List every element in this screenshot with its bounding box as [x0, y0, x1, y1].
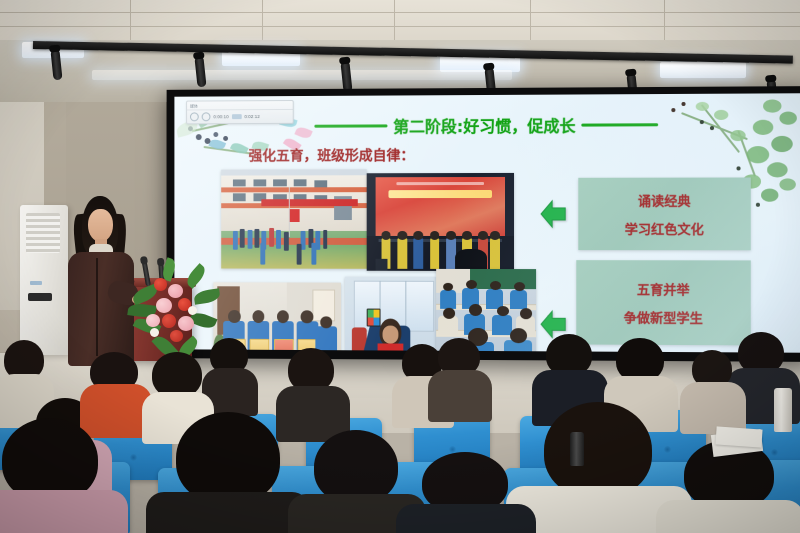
callout-line: 争做新型学生: [624, 307, 703, 326]
handout-papers[interactable]: [715, 426, 762, 447]
speaker-coat-seam: [96, 258, 98, 356]
flower-rose-white: [188, 306, 197, 315]
callout-box-classics: 诵读经典 学习红色文化: [578, 177, 750, 250]
audience-member: [434, 338, 484, 408]
flower-rose-pink: [146, 314, 160, 327]
callout-line: 学习红色文化: [625, 218, 704, 237]
flower-rose-pink: [168, 284, 183, 298]
flower-rose-red: [170, 330, 183, 342]
title-rule-right: [582, 123, 659, 126]
speaker-coat: [68, 252, 134, 366]
audience-member: [688, 350, 736, 420]
air-conditioner-unit: [20, 205, 68, 355]
presentation-photo-scene: 媒体 0:00:10 0:02:12 第二阶段:好习惯，促成长: [0, 0, 800, 533]
callout-line: 五育并举: [637, 279, 690, 298]
audience-member-foreground: [300, 430, 410, 533]
audience-member-foreground: [404, 452, 524, 533]
title-rule-left: [314, 124, 387, 127]
audience-member-foreground: [158, 412, 294, 533]
air-conditioner-grill: [26, 213, 60, 253]
slide-title-row: 第二阶段:好习惯，促成长: [174, 111, 800, 138]
callout-line: 诵读经典: [638, 190, 691, 209]
arrow-left-top-icon: [540, 195, 566, 233]
presentation-screen: 媒体 0:00:10 0:02:12 第二阶段:好习惯，促成长: [167, 86, 800, 362]
air-conditioner-control-panel[interactable]: [28, 293, 52, 301]
thermos-bottle[interactable]: [570, 432, 584, 466]
powerpoint-slide: 媒体 0:00:10 0:02:12 第二阶段:好习惯，促成长: [174, 93, 800, 352]
photo-stage-performance: [367, 173, 514, 271]
thermos-bottle[interactable]: [774, 388, 792, 432]
audience-member: [206, 338, 252, 404]
ceiling-panel-light: [92, 70, 512, 80]
photo-flag-ceremony: [221, 169, 366, 268]
slide-title: 第二阶段:好习惯，促成长: [393, 113, 575, 138]
audience-member-foreground: [516, 402, 672, 533]
speaker-presenter: [62, 196, 138, 366]
flower-rose-red: [162, 314, 176, 328]
photo-rubiks-cube: [345, 277, 436, 353]
flower-rose-red: [154, 278, 167, 291]
screen-display-area: 媒体 0:00:10 0:02:12 第二阶段:好习惯，促成长: [174, 93, 800, 352]
audience-member: [542, 334, 596, 408]
flower-rose-pink: [178, 316, 194, 331]
audience-member: [86, 352, 142, 422]
air-conditioner-badge: [30, 281, 42, 285]
audience-member-foreground: [0, 418, 110, 533]
flower-rose-pink: [156, 298, 172, 313]
ceiling-panel-light: [660, 62, 746, 78]
slide-subtitle: 强化五育，班级形成自律：: [249, 145, 415, 165]
flower-rose-white: [150, 328, 159, 337]
speaker-face: [88, 209, 113, 242]
callout-box-five-education: 五育并举 争做新型学生: [576, 260, 751, 345]
